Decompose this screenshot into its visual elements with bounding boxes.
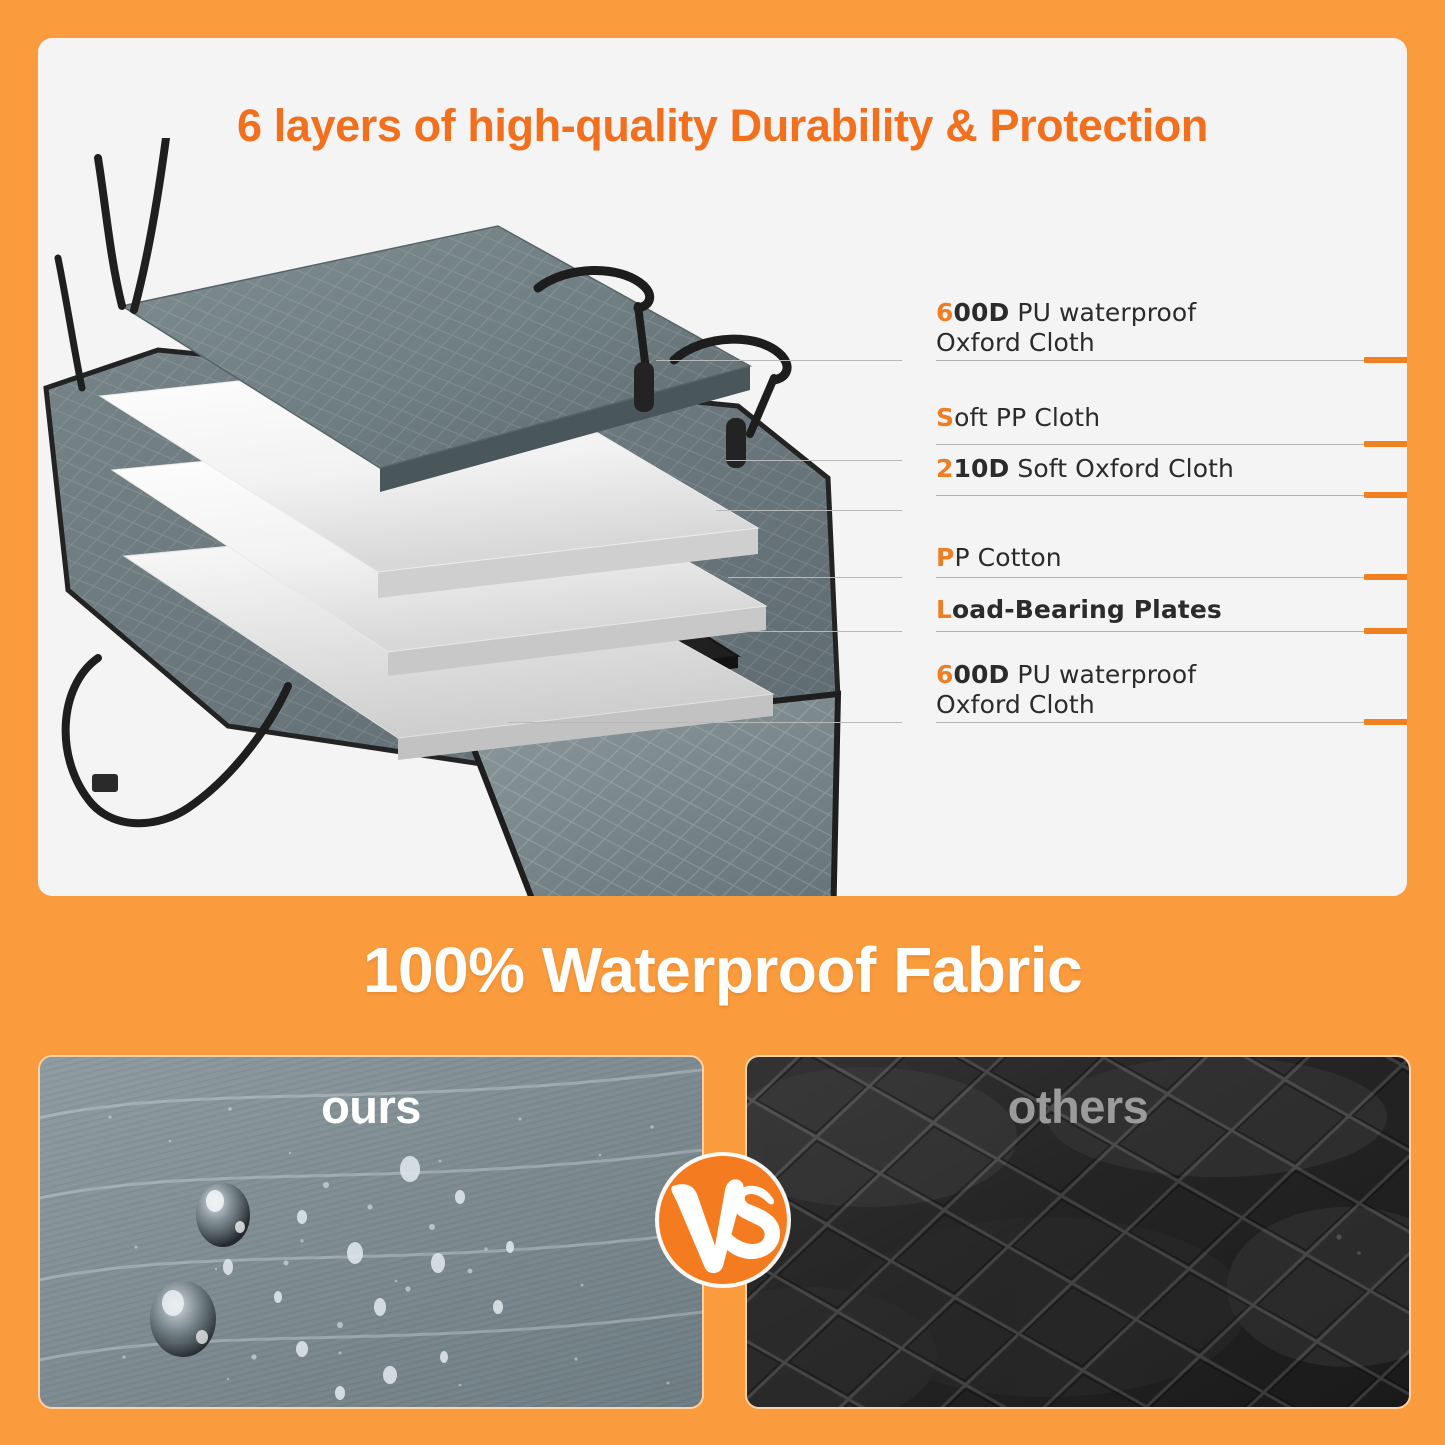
leader-line-6	[508, 722, 902, 723]
waterproof-banner: 100% Waterproof Fabric	[0, 900, 1445, 1040]
layer-label-6-bold: 00D	[954, 660, 1010, 689]
layer-label-row-1: 600D PU waterproof Oxford Cloth	[936, 298, 1376, 357]
layer-label-row-6: 600D PU waterproof Oxford Cloth	[936, 660, 1376, 719]
leader-line-2	[726, 460, 902, 461]
banner-title: 100% Waterproof Fabric	[363, 933, 1082, 1007]
layer-label-2-lead: S	[936, 403, 954, 432]
layer-label-row-4: PP Cotton	[936, 543, 1376, 573]
layer-rule-6	[936, 722, 1407, 723]
ours-caption: ours	[40, 1079, 702, 1134]
layer-rule-tip-5	[1364, 628, 1407, 634]
layer-label-3-bold: 10D	[954, 454, 1010, 483]
layer-label-1-lead: 6	[936, 298, 954, 327]
layer-label-list: 600D PU waterproof Oxford Cloth Soft PP …	[898, 188, 1398, 888]
layer-label-3: 210D Soft Oxford Cloth	[936, 454, 1376, 484]
layer-label-row-3: 210D Soft Oxford Cloth	[936, 454, 1376, 484]
layer-label-5-bold: oad-Bearing Plates	[952, 595, 1222, 624]
layer-rule-4	[936, 577, 1407, 578]
leader-line-1	[656, 360, 902, 361]
layer-label-row-2: Soft PP Cloth	[936, 403, 1376, 433]
leader-line-5	[738, 631, 902, 632]
layer-label-3-rest: Soft Oxford Cloth	[1009, 454, 1234, 483]
layer-rule-1	[936, 360, 1407, 361]
layer-label-3-lead: 2	[936, 454, 954, 483]
vs-badge-icon	[653, 1150, 793, 1290]
layer-label-4-rest: P Cotton	[954, 543, 1061, 572]
layer-label-1: 600D PU waterproof Oxford Cloth	[936, 298, 1376, 357]
layer-label-5: Load-Bearing Plates	[936, 595, 1376, 625]
comparison-panel-others: others	[745, 1055, 1411, 1409]
layer-rule-3	[936, 495, 1407, 496]
layer-rule-tip-1	[1364, 357, 1407, 363]
others-caption: others	[747, 1079, 1409, 1134]
layer-label-5-lead: L	[936, 595, 952, 624]
leader-line-4	[728, 577, 902, 578]
layer-label-4-lead: P	[936, 543, 954, 572]
layer-rule-tip-6	[1364, 719, 1407, 725]
layer-rule-tip-2	[1364, 441, 1407, 447]
layer-label-4: PP Cotton	[936, 543, 1376, 573]
layers-info-card: 6 layers of high-quality Durability & Pr…	[38, 38, 1407, 896]
layer-label-6: 600D PU waterproof Oxford Cloth	[936, 660, 1376, 719]
comparison-panel-ours: ours	[38, 1055, 704, 1409]
layer-label-1-bold: 00D	[954, 298, 1010, 327]
layer-label-2: Soft PP Cloth	[936, 403, 1376, 433]
layer-label-6-lead: 6	[936, 660, 954, 689]
layer-rule-tip-4	[1364, 574, 1407, 580]
layer-rule-5	[936, 631, 1407, 632]
layer-rule-2	[936, 444, 1407, 445]
layer-label-row-5: Load-Bearing Plates	[936, 595, 1376, 625]
layer-label-2-rest: oft PP Cloth	[954, 403, 1100, 432]
product-exploded-view-image	[38, 138, 938, 896]
leader-line-3	[716, 510, 902, 511]
layer-rule-tip-3	[1364, 492, 1407, 498]
